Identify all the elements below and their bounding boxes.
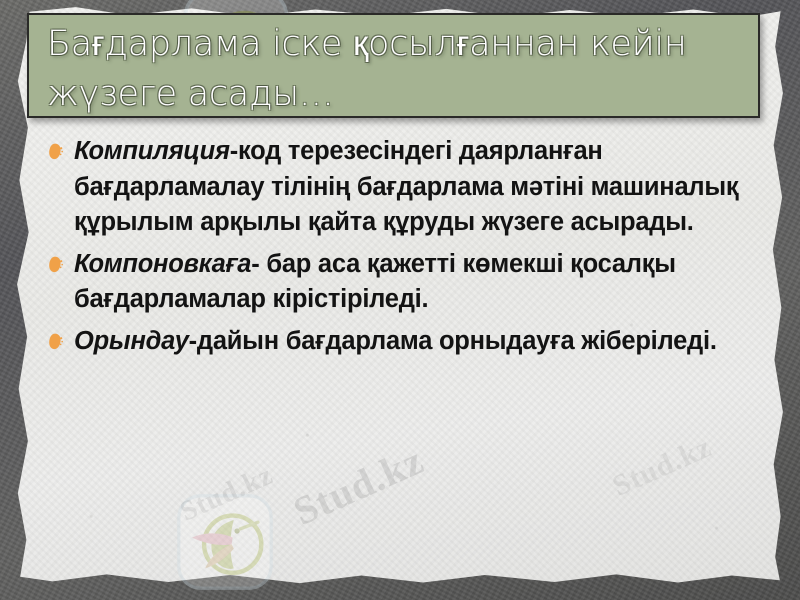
list-item: Орындау-дайын бағдарлама орныдауға жібер… <box>46 324 746 360</box>
list-item-term: Компоновкаға <box>74 250 251 278</box>
list-item-description: -дайын бағдарлама орныдауға жіберіледі. <box>189 327 717 355</box>
list-item-text: Орындау-дайын бағдарлама орныдауға жібер… <box>74 327 717 355</box>
slide-title-box: Бағдарлама іске қосылғаннан кейін жүзеге… <box>27 13 760 118</box>
bullet-marker-icon <box>48 143 63 160</box>
list-item: Компоновкаға- бар аса қажетті көмекші қо… <box>46 247 746 318</box>
list-item: Компиляция-код терезесіндегі даярланған … <box>46 134 746 241</box>
list-item-text: Компоновкаға- бар аса қажетті көмекші қо… <box>74 250 676 314</box>
bullet-marker-icon <box>48 256 63 273</box>
slide-title: Бағдарлама іске қосылғаннан кейін жүзеге… <box>47 19 744 118</box>
list-item-text: Компиляция-код терезесіндегі даярланған … <box>74 137 738 236</box>
slide-bullet-list: Компиляция-код терезесіндегі даярланған … <box>46 134 746 365</box>
list-item-term: Компиляция <box>74 137 230 165</box>
list-item-term: Орындау <box>74 327 189 355</box>
presentation-slide: Stud.kz Stud.kz Stud.kz Stud.kz Бағдарла… <box>0 0 800 600</box>
bullet-marker-icon <box>48 333 63 350</box>
